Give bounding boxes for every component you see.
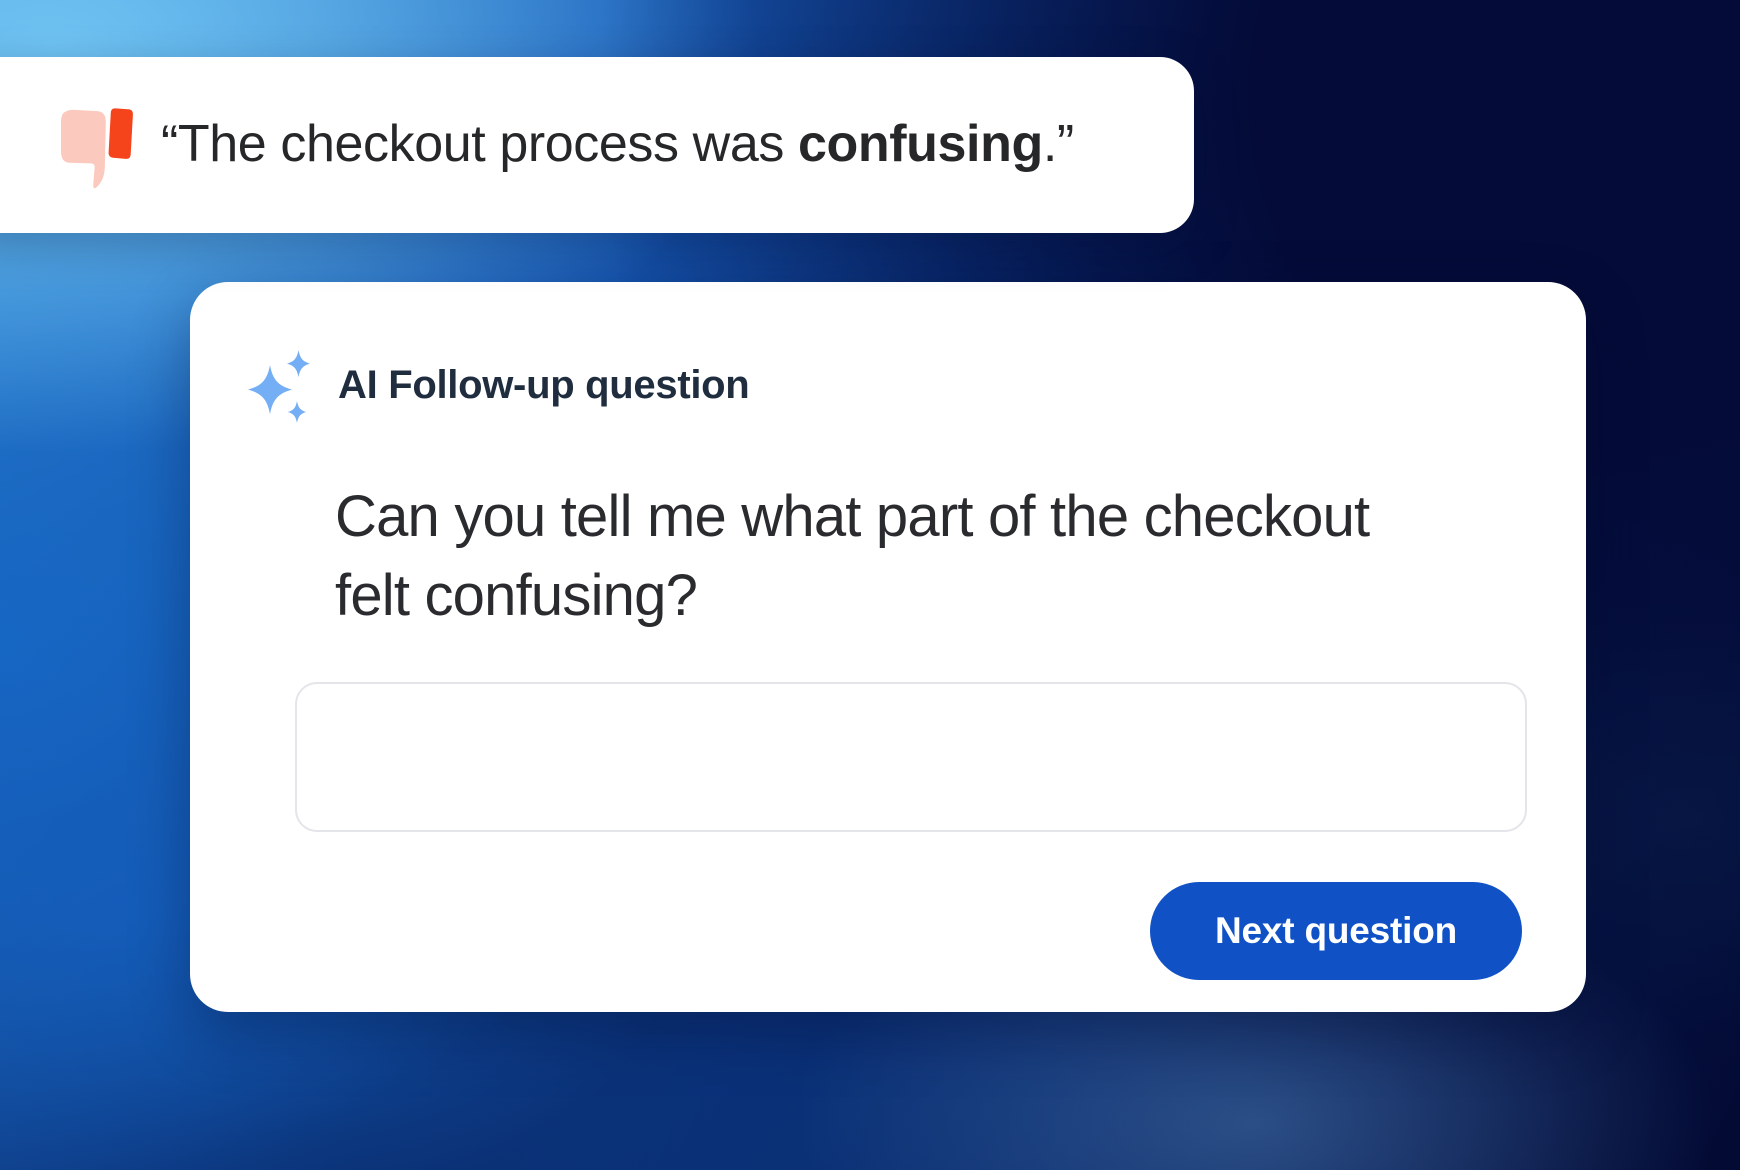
answer-input[interactable] bbox=[295, 682, 1527, 832]
ai-followup-card: AI Follow-up question Can you tell me wh… bbox=[190, 282, 1586, 1012]
quote-text-before: The checkout process was bbox=[178, 115, 798, 173]
customer-quote-text: “The checkout process was confusing.” bbox=[161, 115, 1074, 175]
customer-quote-card: “The checkout process was confusing.” bbox=[0, 57, 1194, 233]
quote-text-after: .” bbox=[1043, 115, 1074, 173]
quote-open-mark: “ bbox=[161, 115, 178, 173]
sparkles-icon bbox=[240, 345, 318, 423]
quote-emphasis-word: confusing bbox=[798, 115, 1043, 173]
ai-followup-header-label: AI Follow-up question bbox=[338, 365, 749, 405]
next-question-button[interactable]: Next question bbox=[1150, 882, 1522, 980]
thumbs-down-icon bbox=[60, 105, 134, 189]
ai-followup-question-text: Can you tell me what part of the checkou… bbox=[335, 478, 1405, 636]
ai-followup-header: AI Follow-up question bbox=[240, 345, 749, 423]
